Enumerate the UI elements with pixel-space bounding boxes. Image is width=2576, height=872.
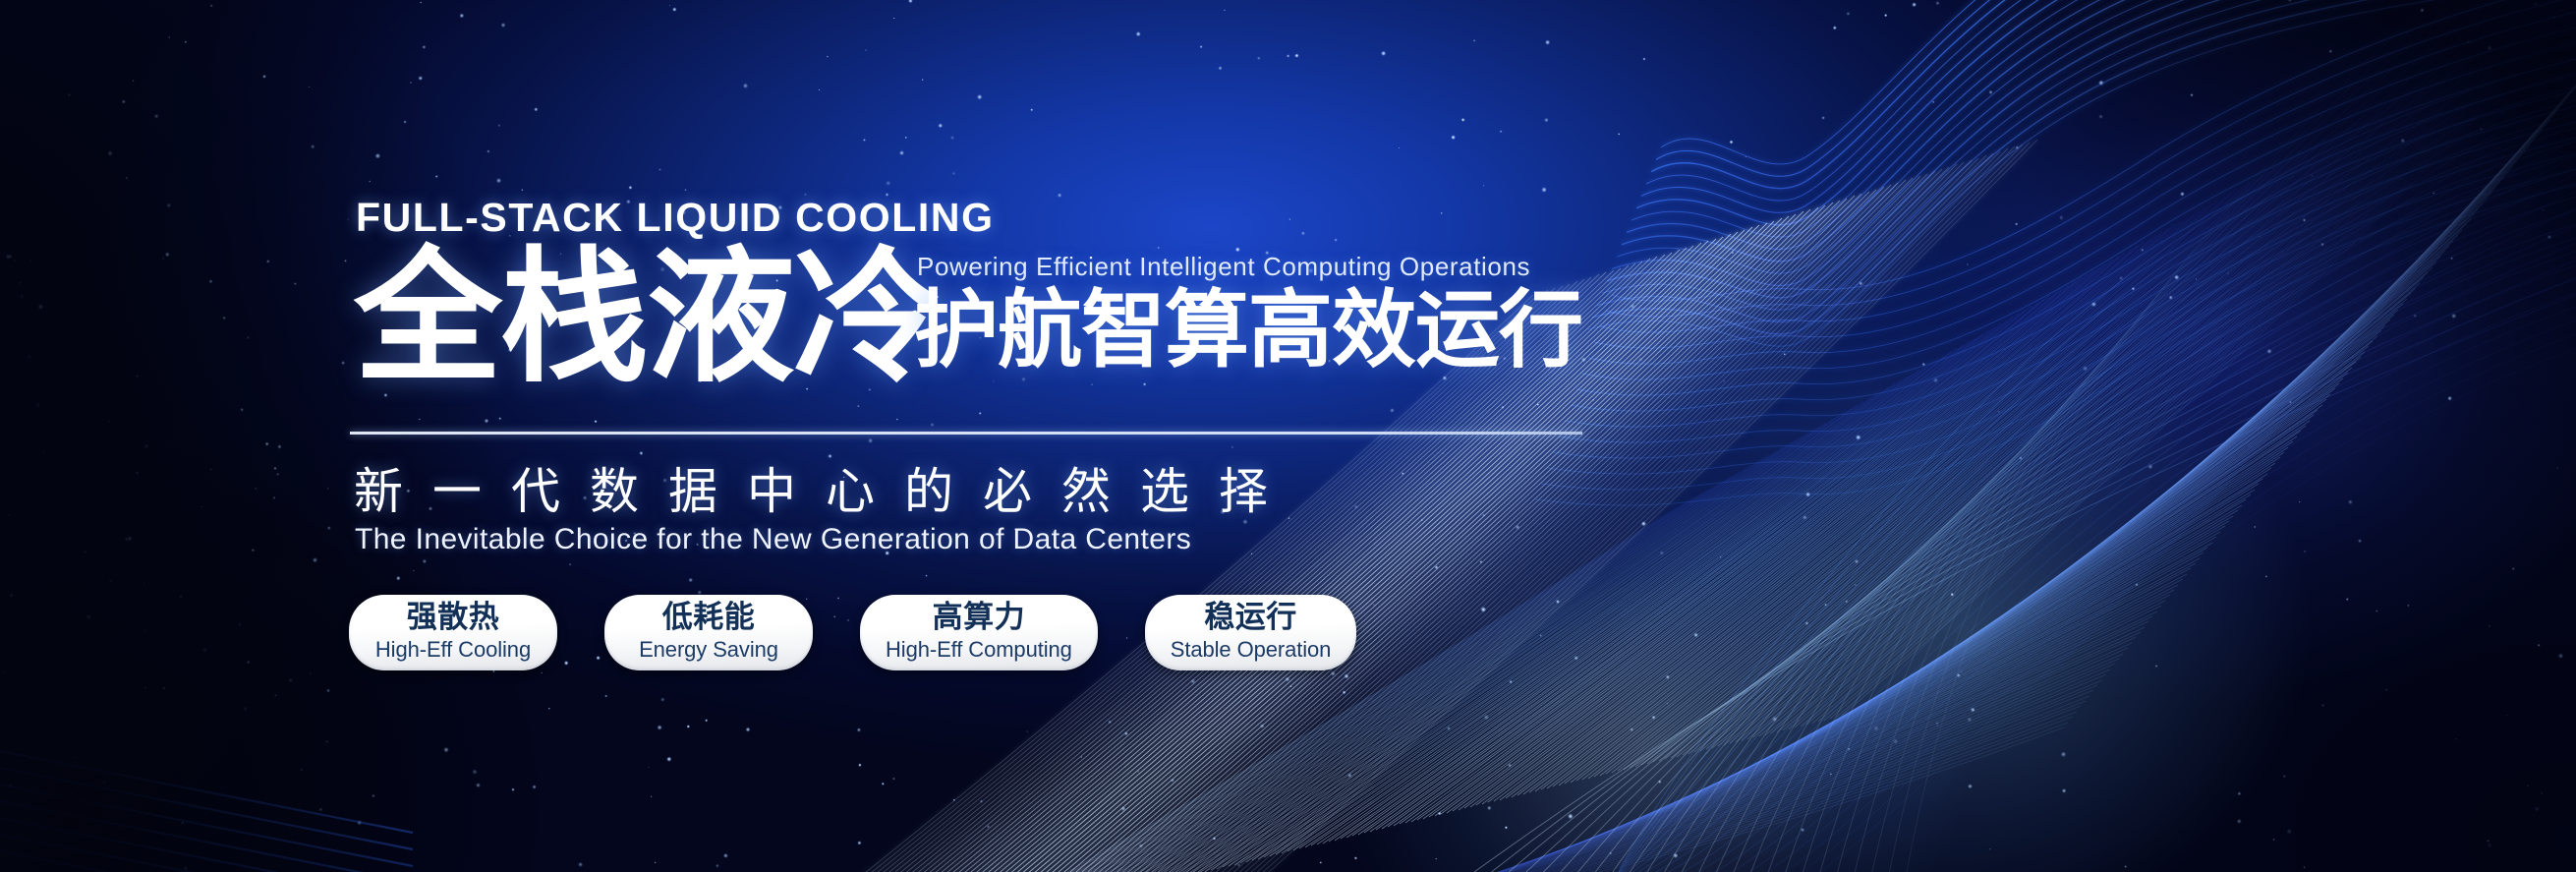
feature-pill-list: 强散热 High-Eff Cooling 低耗能 Energy Saving 高… (349, 595, 1356, 670)
pill-label-cn: 强散热 (374, 602, 532, 632)
pill-label-cn: 稳运行 (1171, 602, 1332, 632)
pill-label-en: High-Eff Computing (886, 639, 1072, 661)
tagline-chinese: 新一代数据中心的必然选择 (354, 452, 1297, 523)
liquid-cooling-hero-banner: FULL-STACK LIQUID COOLING 全栈液冷 Powering … (0, 0, 2576, 872)
eyebrow-text: FULL-STACK LIQUID COOLING (356, 195, 995, 241)
horizontal-divider (350, 432, 1582, 435)
pill-label-en: Energy Saving (630, 639, 787, 661)
pill-label-cn: 高算力 (886, 602, 1072, 632)
pill-label-en: High-Eff Cooling (374, 639, 532, 661)
feature-pill-stability[interactable]: 稳运行 Stable Operation (1145, 595, 1357, 670)
pill-label-cn: 低耗能 (630, 602, 787, 632)
headline-row: 全栈液冷 Powering Efficient Intelligent Comp… (354, 246, 1631, 423)
banner-content: FULL-STACK LIQUID COOLING 全栈液冷 Powering … (354, 0, 1631, 872)
headline-sub-chinese: 护航智算高效运行 (914, 288, 1602, 375)
headline-sub-english: Powering Efficient Intelligent Computing… (917, 252, 1602, 282)
headline-side-block: Powering Efficient Intelligent Computing… (914, 252, 1602, 375)
tagline-english: The Inevitable Choice for the New Genera… (355, 523, 1191, 556)
feature-pill-computing[interactable]: 高算力 High-Eff Computing (860, 595, 1098, 670)
feature-pill-energy[interactable]: 低耗能 Energy Saving (604, 595, 813, 670)
headline-primary: 全栈液冷 (354, 246, 940, 391)
pill-label-en: Stable Operation (1171, 639, 1332, 661)
feature-pill-cooling[interactable]: 强散热 High-Eff Cooling (349, 595, 557, 670)
